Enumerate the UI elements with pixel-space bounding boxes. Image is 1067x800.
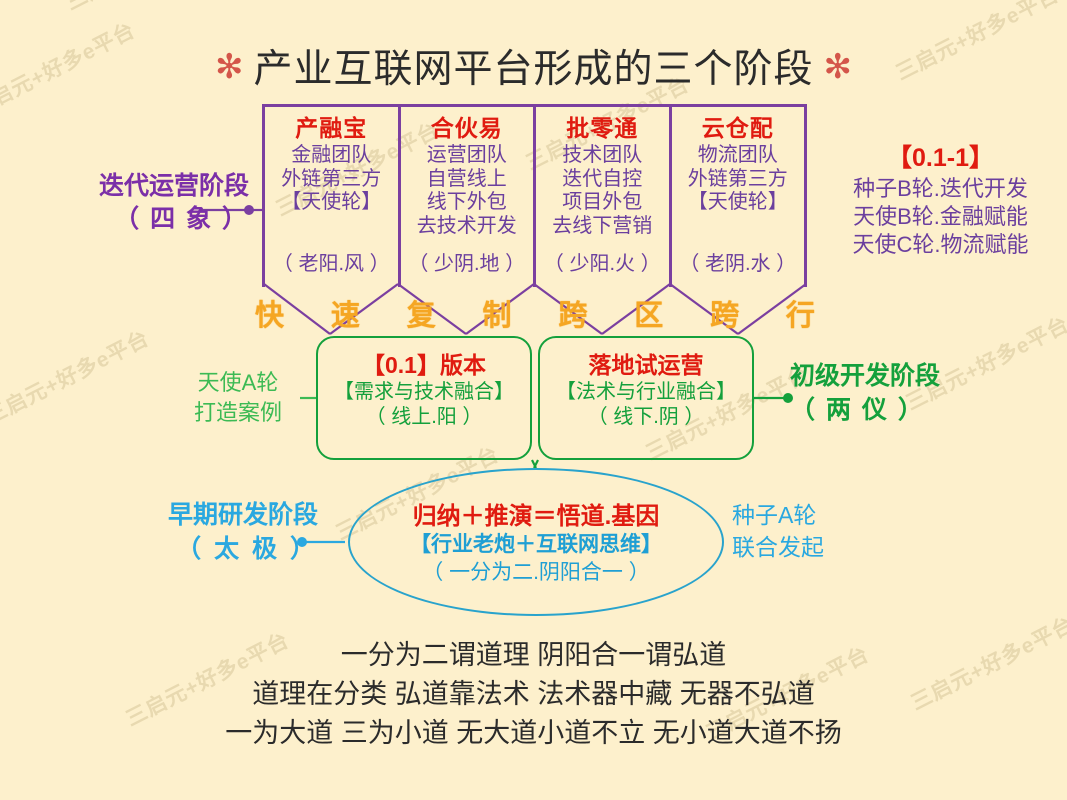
banner-char: 跨 <box>558 292 587 334</box>
panel-round-line: 天使C轮.物流赋能 <box>818 231 1063 259</box>
ellipse-footer: （ 一分为二.阴阳合一 ） <box>350 559 722 586</box>
label-seed-round-a: 种子A轮 联合发起 <box>732 500 902 563</box>
green-box-subtitle: 【需求与技术融合】 <box>318 380 530 405</box>
banner-char: 速 <box>331 292 360 334</box>
green-box-trial-operation[interactable]: 落地试运营 【法术与行业融合】 （ 线下.阴 ） <box>538 336 754 460</box>
quad-box-line: 线下外包 <box>401 191 534 215</box>
green-box-subtitle: 【法术与行业融合】 <box>540 380 752 405</box>
panel-round-line: 天使B轮.金融赋能 <box>818 203 1063 231</box>
ellipse-title: 归纳＋推演＝悟道.基因 <box>350 503 722 532</box>
quad-box-hehuoyi[interactable]: 合伙易 运营团队 自营线上 线下外包 去技术开发 （ 少阴.地 ） <box>398 107 534 287</box>
quad-box-title: 产融宝 <box>265 115 398 142</box>
quad-box-line: 技术团队 <box>536 144 669 168</box>
banner-char: 区 <box>634 292 663 334</box>
panel-round-header: 【0.1-1】 <box>818 142 1063 175</box>
label-angel-round-a-line1: 天使A轮 <box>172 368 304 398</box>
quad-box-title: 合伙易 <box>401 115 534 142</box>
stage-label-primary: 初级开发阶段 （ 两 仪 ） <box>790 360 1050 427</box>
diagram-canvas: 三启元+好多e平台 三启元+好多e平台 三启元+好多e平台 三启元+好多e平台 … <box>0 0 1067 800</box>
page-title: ✻产业互联网平台形成的三个阶段✻ <box>0 38 1067 94</box>
quad-box-pilingtong[interactable]: 批零通 技术团队 迭代自控 项目外包 去线下营销 （ 少阳.火 ） <box>533 107 669 287</box>
panel-round-line: 种子B轮.迭代开发 <box>818 175 1063 203</box>
quad-box-line: 金融团队 <box>265 144 398 168</box>
stage-label-primary-line2: （ 两 仪 ） <box>790 394 1050 428</box>
quad-box-title: 批零通 <box>536 115 669 142</box>
banner-char: 制 <box>483 292 512 334</box>
watermark: 三启元+好多e平台 <box>0 322 154 430</box>
green-box-title: 【0.1】版本 <box>318 352 530 380</box>
star-icon-right: ✻ <box>824 48 853 86</box>
quad-box-line: 去技术开发 <box>401 215 534 239</box>
green-box-title: 落地试运营 <box>540 352 752 380</box>
quad-box-footer: （ 老阴.水 ） <box>672 253 805 277</box>
watermark: 三启元+好多e平台 <box>60 0 234 17</box>
quad-box-footer: （ 少阴.地 ） <box>401 253 534 277</box>
verse-block: 一分为二谓道理 阴阳合一谓弘道 道理在分类 弘道靠法术 法术器中藏 无器不弘道 … <box>0 636 1067 753</box>
banner-char: 行 <box>786 292 815 334</box>
banner-char: 复 <box>407 292 436 334</box>
quad-box-line: 迭代自控 <box>536 168 669 192</box>
page-title-text: 产业互联网平台形成的三个阶段 <box>243 48 823 91</box>
label-seed-round-a-line2: 联合发起 <box>732 532 902 564</box>
quad-box-chanrongbao[interactable]: 产融宝 金融团队 外链第三方 【天使轮】 （ 老阳.风 ） <box>262 107 398 287</box>
verse-line: 一分为二谓道理 阴阳合一谓弘道 <box>0 636 1067 675</box>
quad-box-footer: （ 少阳.火 ） <box>536 253 669 277</box>
green-box-version-01[interactable]: 【0.1】版本 【需求与技术融合】 （ 线上.阳 ） <box>316 336 532 460</box>
ellipse-subtitle: 【行业老炮＋互联网思维】 <box>350 532 722 559</box>
label-seed-round-a-line1: 种子A轮 <box>732 500 902 532</box>
quad-box-line: 【天使轮】 <box>672 191 805 215</box>
quad-box-line: 物流团队 <box>672 144 805 168</box>
stage-label-early-line2: （ 太 极 ） <box>78 532 318 566</box>
label-angel-round-a-line2: 打造案例 <box>172 398 304 428</box>
quad-box-title: 云仓配 <box>672 115 805 142</box>
verse-line: 道理在分类 弘道靠法术 法术器中藏 无器不弘道 <box>0 675 1067 714</box>
quad-box-line: 运营团队 <box>401 144 534 168</box>
quad-box-line: 外链第三方 <box>265 168 398 192</box>
green-box-footer: （ 线下.阴 ） <box>540 405 752 430</box>
star-icon-left: ✻ <box>215 48 244 86</box>
quad-box-line: 外链第三方 <box>672 168 805 192</box>
banner-char: 跨 <box>710 292 739 334</box>
quad-box-line: 去线下营销 <box>536 215 669 239</box>
ellipse-taiji-core[interactable]: 归纳＋推演＝悟道.基因 【行业老炮＋互联网思维】 （ 一分为二.阴阳合一 ） <box>348 468 724 616</box>
quad-box-line: 【天使轮】 <box>265 191 398 215</box>
stage-label-iteration-line1: 迭代运营阶段 <box>99 172 249 200</box>
green-box-footer: （ 线上.阳 ） <box>318 405 530 430</box>
quad-box-group: 产融宝 金融团队 外链第三方 【天使轮】 （ 老阳.风 ） 合伙易 运营团队 自… <box>262 104 807 287</box>
label-angel-round-a: 天使A轮 打造案例 <box>172 368 304 427</box>
quad-box-yuncangpei[interactable]: 云仓配 物流团队 外链第三方 【天使轮】 （ 老阴.水 ） <box>669 107 808 287</box>
panel-round-01-1: 【0.1-1】 种子B轮.迭代开发 天使B轮.金融赋能 天使C轮.物流赋能 <box>818 142 1063 259</box>
banner-fast-replication: 快 速 复 制 跨 区 跨 行 <box>255 292 815 334</box>
stage-label-early: 早期研发阶段 （ 太 极 ） <box>78 498 318 566</box>
quad-box-footer: （ 老阳.风 ） <box>265 253 398 277</box>
banner-char: 快 <box>255 292 284 334</box>
stage-label-iteration-line2: （ 四 象 ） <box>24 203 249 236</box>
stage-label-early-line1: 早期研发阶段 <box>168 501 318 529</box>
stage-label-primary-line1: 初级开发阶段 <box>790 362 940 390</box>
stage-label-iteration: 迭代运营阶段 （ 四 象 ） <box>24 170 249 236</box>
quad-box-line: 自营线上 <box>401 168 534 192</box>
verse-line: 一为大道 三为小道 无大道小道不立 无小道大道不扬 <box>0 714 1067 753</box>
quad-box-line: 项目外包 <box>536 191 669 215</box>
